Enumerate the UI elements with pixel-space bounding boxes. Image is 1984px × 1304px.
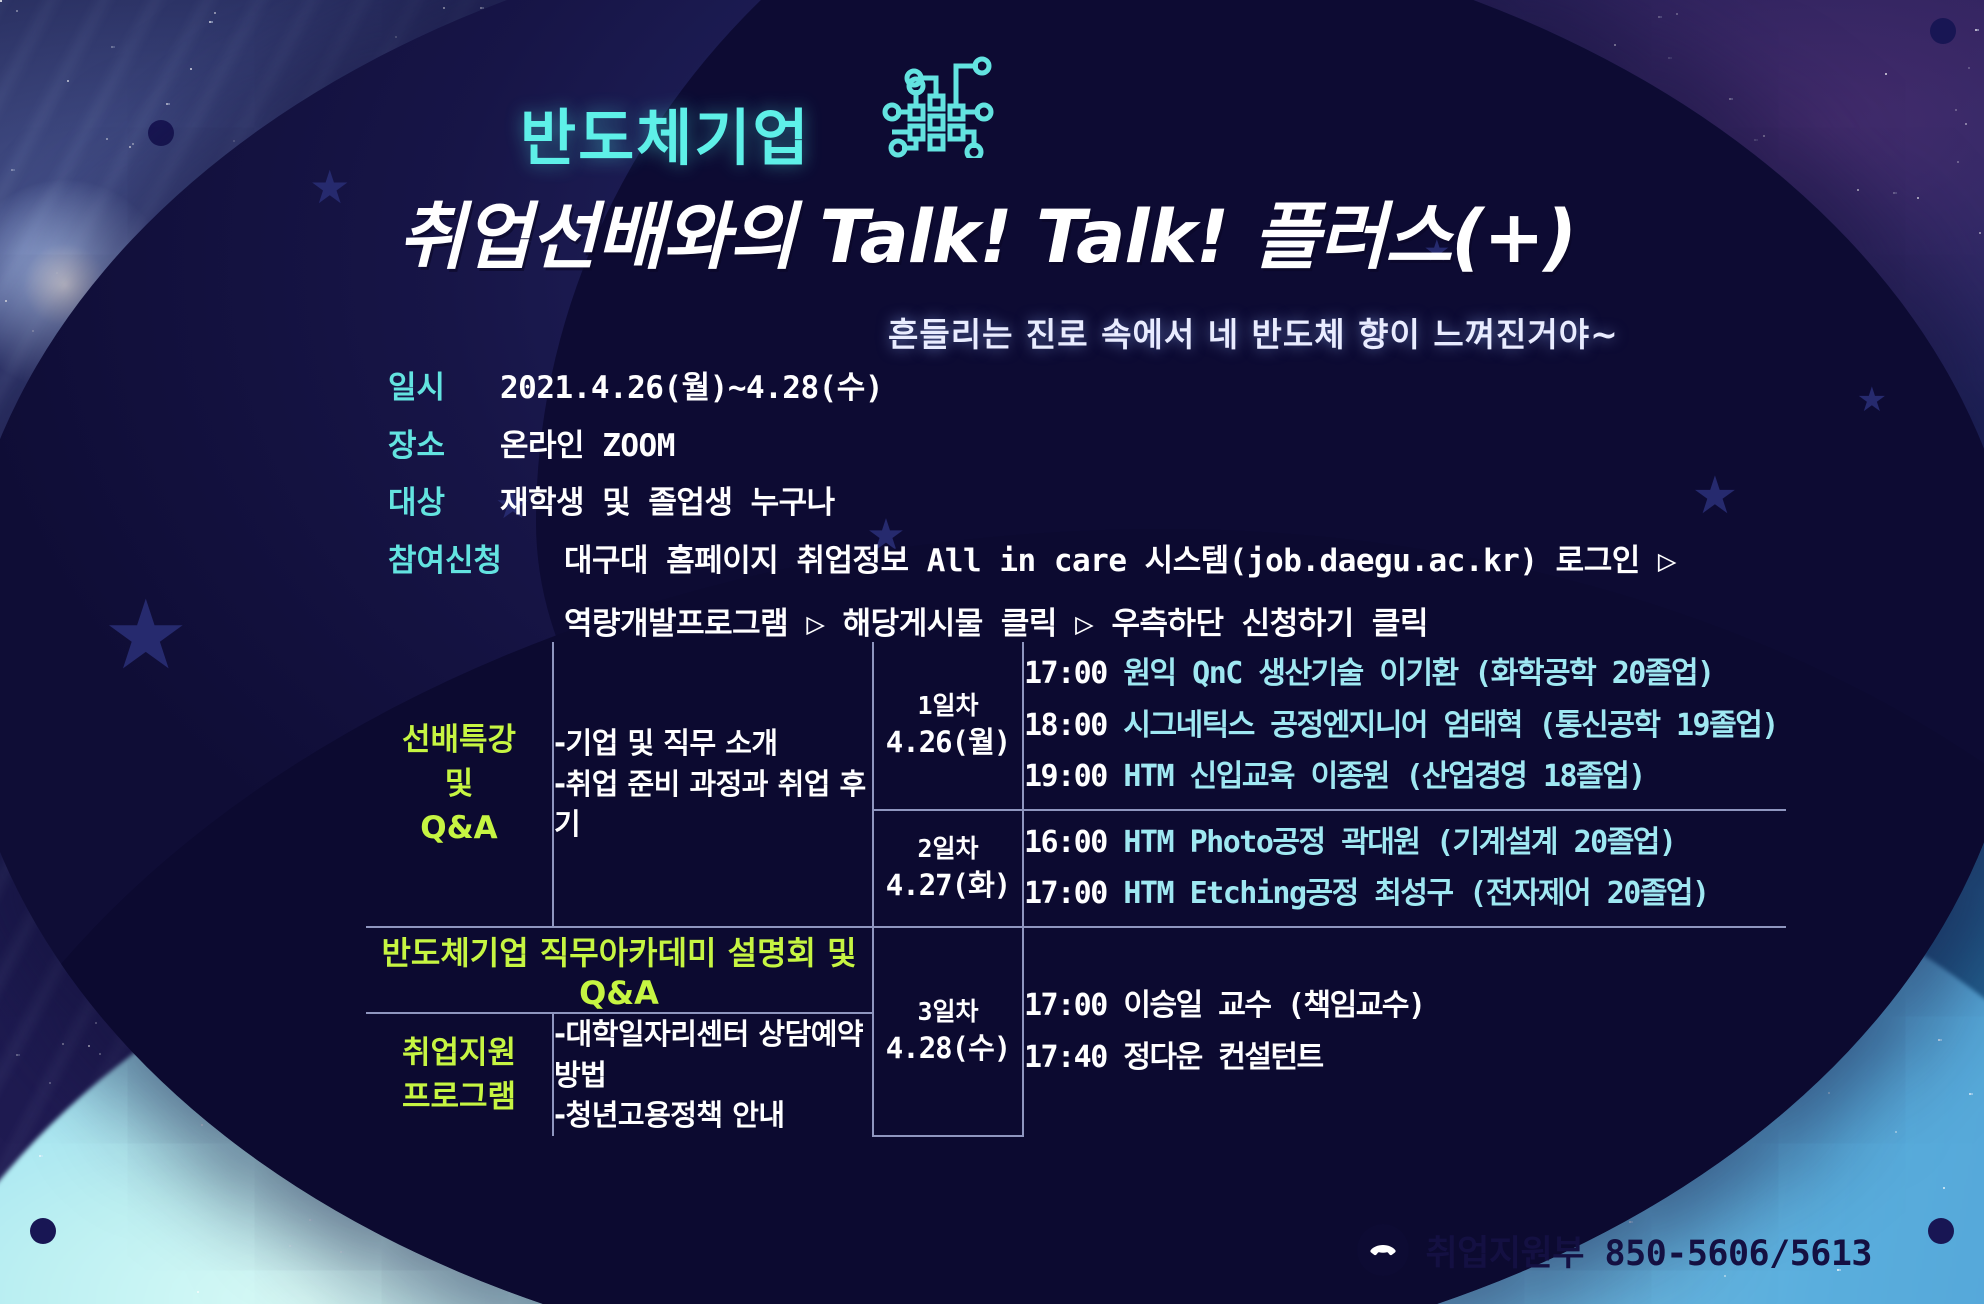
cell-description-support: -대학일자리센터 상담예약 방법 -청년고용정책 안내: [553, 1013, 873, 1136]
footer-contact: 취업지원부 850-5606/5613: [1357, 1224, 1872, 1276]
info-apply-continuation: 역량개발프로그램 ▷ 해당게시물 클릭 ▷ 우측하단 신청하기 클릭: [564, 598, 1688, 643]
session-detail: HTM Etching공정 최성구 (전자제어 20졸업): [1123, 876, 1708, 911]
session-item: 17:00 HTM Etching공정 최성구 (전자제어 20졸업): [1024, 874, 1786, 914]
category-line: 및: [366, 762, 552, 806]
tagline: 흔들리는 진로 속에서 네 반도체 향이 느껴진거야~: [888, 308, 1619, 356]
session-time: 18:00: [1024, 708, 1107, 743]
session-detail: 시그네틱스 공정엔지니어 엄태혁 (통신공학 19졸업): [1123, 708, 1778, 743]
info-row-place: 장소 온라인 ZOOM: [388, 426, 1688, 468]
cell-category-lecture: 선배특강 및 Q&A: [366, 642, 553, 927]
cell-day-3: 3일차 4.28(수): [873, 927, 1023, 1136]
info-label-audience: 대상: [388, 483, 500, 525]
session-detail: 정다운 컨설턴트: [1123, 1040, 1322, 1075]
info-label-apply: 참여신청: [388, 541, 564, 583]
day-label: 3일차: [874, 995, 1022, 1029]
kicker-title: 반도체기업: [520, 88, 811, 177]
info-label-date: 일시: [388, 368, 500, 410]
poster-content: 반도체기업 취업선배와의 Talk! Talk! 플러스(+): [0, 0, 1984, 1304]
session-time: 19:00: [1024, 759, 1107, 794]
day-label: 2일차: [874, 832, 1022, 866]
info-label-place: 장소: [388, 426, 500, 468]
info-row-audience: 대상 재학생 및 졸업생 누구나: [388, 483, 1688, 525]
schedule-table: 선배특강 및 Q&A -기업 및 직무 소개 -취업 준비 과정과 취업 후기 …: [366, 642, 1786, 1137]
session-detail: HTM 신입교육 이종원 (산업경영 18졸업): [1123, 759, 1644, 794]
footer-text: 취업지원부 850-5606/5613: [1425, 1225, 1872, 1276]
session-item: 17:00 원익 QnC 생산기술 이기환 (화학공학 20졸업): [1024, 654, 1786, 694]
cell-day-2: 2일차 4.27(화): [873, 810, 1023, 927]
info-row-apply: 참여신청 대구대 홈페이지 취업정보 All in care 시스템(job.d…: [388, 541, 1688, 583]
day-date: 4.26(월): [874, 723, 1022, 762]
session-item: 17:40 정다운 컨설턴트: [1024, 1038, 1786, 1078]
cell-description-lecture: -기업 및 직무 소개 -취업 준비 과정과 취업 후기: [553, 642, 873, 927]
cell-sessions-day-3: 17:00 이승일 교수 (책임교수) 17:40 정다운 컨설턴트: [1023, 927, 1786, 1136]
cell-sessions-day-1: 17:00 원익 QnC 생산기술 이기환 (화학공학 20졸업) 18:00 …: [1023, 642, 1786, 810]
info-value-date: 2021.4.26(월)~4.28(수): [500, 368, 883, 410]
session-time: 17:40: [1024, 1040, 1107, 1075]
session-detail: 이승일 교수 (책임교수): [1123, 988, 1424, 1023]
description-line: -대학일자리센터 상담예약 방법: [554, 1014, 872, 1095]
info-value-apply[interactable]: 대구대 홈페이지 취업정보 All in care 시스템(job.daegu.…: [564, 541, 1676, 583]
session-time: 17:00: [1024, 988, 1107, 1023]
info-block: 일시 2021.4.26(월)~4.28(수) 장소 온라인 ZOOM 대상 재…: [388, 368, 1688, 643]
category-line: Q&A: [366, 806, 552, 850]
session-item: 16:00 HTM Photo공정 곽대원 (기계설계 20졸업): [1024, 823, 1786, 863]
session-time: 17:00: [1024, 656, 1107, 691]
category-line: 프로그램: [366, 1075, 552, 1119]
poster-root: ★ ★ ★ ★ ★ ★ ★ ★ 반도체기업: [0, 0, 1984, 1304]
description-line: -기업 및 직무 소개: [554, 723, 872, 764]
session-item: 18:00 시그네틱스 공정엔지니어 엄태혁 (통신공학 19졸업): [1024, 706, 1786, 746]
description-line: -청년고용정책 안내: [554, 1095, 872, 1136]
phone-icon: [1357, 1224, 1409, 1276]
description-line: -취업 준비 과정과 취업 후기: [554, 764, 872, 845]
table-row: 선배특강 및 Q&A -기업 및 직무 소개 -취업 준비 과정과 취업 후기 …: [366, 642, 1786, 810]
session-item: 17:00 이승일 교수 (책임교수): [1024, 986, 1786, 1026]
circuit-chip-icon: [880, 56, 1000, 162]
category-line: 선배특강: [366, 718, 552, 762]
session-detail: HTM Photo공정 곽대원 (기계설계 20졸업): [1123, 825, 1675, 860]
category-line: 취업지원: [366, 1031, 552, 1075]
cell-academy-title: 반도체기업 직무아카데미 설명회 및 Q&A: [366, 927, 873, 1013]
session-time: 16:00: [1024, 825, 1107, 860]
cell-category-support: 취업지원 프로그램: [366, 1013, 553, 1136]
table-row: 반도체기업 직무아카데미 설명회 및 Q&A 3일차 4.28(수) 17:00…: [366, 927, 1786, 1013]
day-date: 4.28(수): [874, 1029, 1022, 1068]
info-row-date: 일시 2021.4.26(월)~4.28(수): [388, 368, 1688, 410]
info-value-audience: 재학생 및 졸업생 누구나: [500, 483, 835, 525]
session-time: 17:00: [1024, 876, 1107, 911]
session-detail: 원익 QnC 생산기술 이기환 (화학공학 20졸업): [1123, 656, 1713, 691]
cell-sessions-day-2: 16:00 HTM Photo공정 곽대원 (기계설계 20졸업) 17:00 …: [1023, 810, 1786, 927]
cell-day-1: 1일차 4.26(월): [873, 642, 1023, 810]
page-title: 취업선배와의 Talk! Talk! 플러스(+): [398, 178, 1576, 284]
session-item: 19:00 HTM 신입교육 이종원 (산업경영 18졸업): [1024, 757, 1786, 797]
day-label: 1일차: [874, 689, 1022, 723]
info-value-place: 온라인 ZOOM: [500, 426, 675, 468]
day-date: 4.27(화): [874, 866, 1022, 905]
